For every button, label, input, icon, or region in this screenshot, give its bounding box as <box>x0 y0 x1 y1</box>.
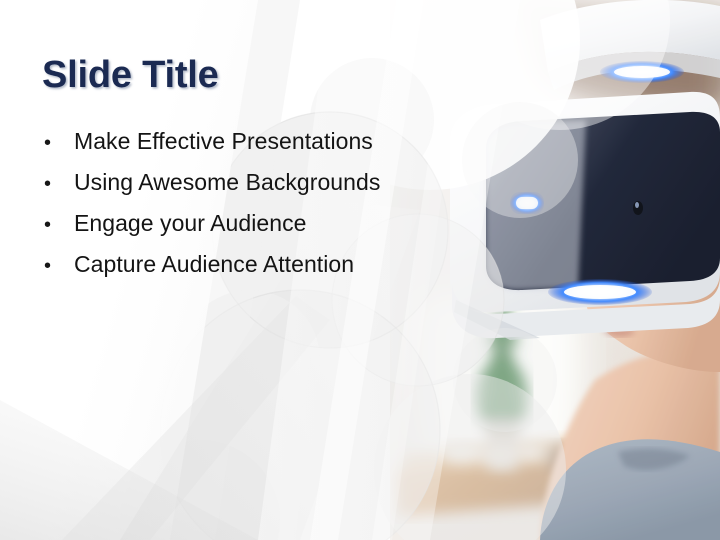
list-item-label: Make Effective Presentations <box>74 128 373 155</box>
list-item: • Make Effective Presentations <box>40 128 460 169</box>
slide-content: Slide Title • Make Effective Presentatio… <box>0 0 470 540</box>
bullet-point-icon: • <box>40 174 74 194</box>
presentation-slide: Slide Title • Make Effective Presentatio… <box>0 0 720 540</box>
list-item: • Using Awesome Backgrounds <box>40 169 460 210</box>
bullet-point-icon: • <box>40 133 74 153</box>
list-item-label: Capture Audience Attention <box>74 251 354 278</box>
bullet-point-icon: • <box>40 256 74 276</box>
page-title: Slide Title <box>42 54 219 97</box>
list-item: • Engage your Audience <box>40 210 460 251</box>
bullet-point-icon: • <box>40 215 74 235</box>
list-item: • Capture Audience Attention <box>40 251 460 292</box>
list-item-label: Using Awesome Backgrounds <box>74 169 380 196</box>
bullet-list: • Make Effective Presentations • Using A… <box>40 128 460 292</box>
list-item-label: Engage your Audience <box>74 210 306 237</box>
